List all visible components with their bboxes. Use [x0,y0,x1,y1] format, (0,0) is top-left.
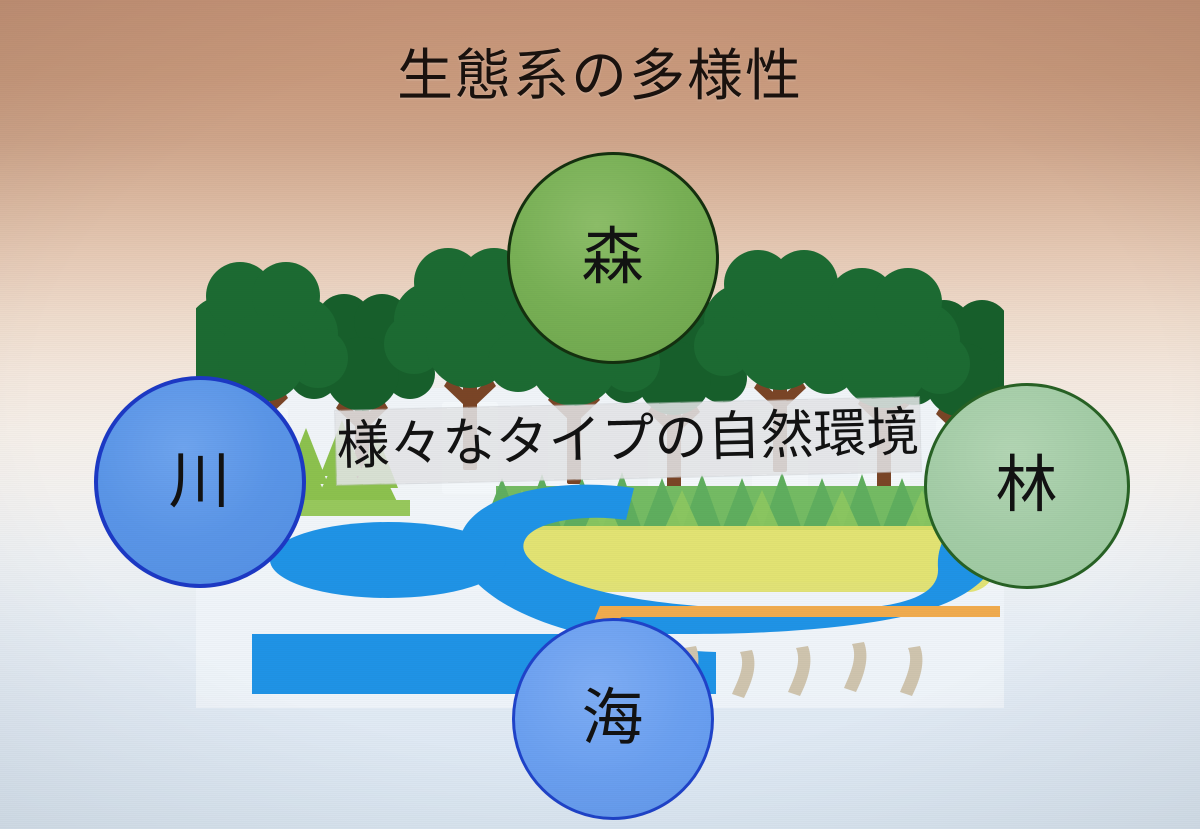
pond [270,522,506,598]
label-circle-river[interactable]: 川 [94,376,306,588]
label-circle-sea[interactable]: 海 [512,618,714,820]
label-circle-woods-text: 林 [995,454,1058,516]
presentation-slide: 生態系の多様性 [0,0,1200,829]
label-circle-sea-text: 海 [581,687,644,749]
caption-banner-text: 様々なタイプの自然環境 [336,406,920,473]
slide-title: 生態系の多様性 [0,47,1200,106]
label-circle-river-text: 川 [168,450,231,512]
label-circle-forest-text: 森 [581,226,644,288]
grass-field [496,526,996,592]
label-circle-woods[interactable]: 林 [924,383,1130,589]
caption-banner: 様々なタイプの自然環境 [335,397,921,485]
label-circle-forest[interactable]: 森 [507,152,719,364]
